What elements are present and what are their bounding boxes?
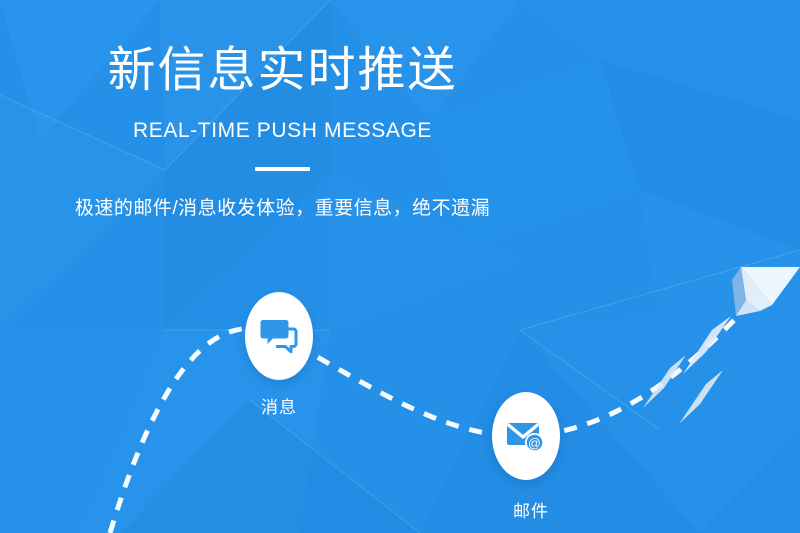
subtitle-english: REAL-TIME PUSH MESSAGE xyxy=(0,116,565,146)
title-divider xyxy=(255,167,310,171)
node-email-label: 邮件 xyxy=(451,500,611,524)
svg-text:@: @ xyxy=(528,436,541,450)
push-message-banner: 新信息实时推送 REAL-TIME PUSH MESSAGE 极速的邮件/消息收… xyxy=(0,0,800,533)
paper-plane-icon xyxy=(732,267,800,316)
envelope-at-icon: @ xyxy=(507,419,545,453)
message-icon-circle[interactable] xyxy=(245,292,313,380)
chat-bubbles-icon xyxy=(260,319,298,353)
page-title: 新信息实时推送 xyxy=(0,40,565,102)
tagline-text: 极速的邮件/消息收发体验，重要信息，绝不遗漏 xyxy=(0,195,565,223)
motion-streaks xyxy=(643,316,731,424)
email-icon-circle[interactable]: @ xyxy=(492,392,560,480)
node-message-label: 消息 xyxy=(199,396,359,420)
banner-text-block: 新信息实时推送 REAL-TIME PUSH MESSAGE 极速的邮件/消息收… xyxy=(0,40,565,223)
